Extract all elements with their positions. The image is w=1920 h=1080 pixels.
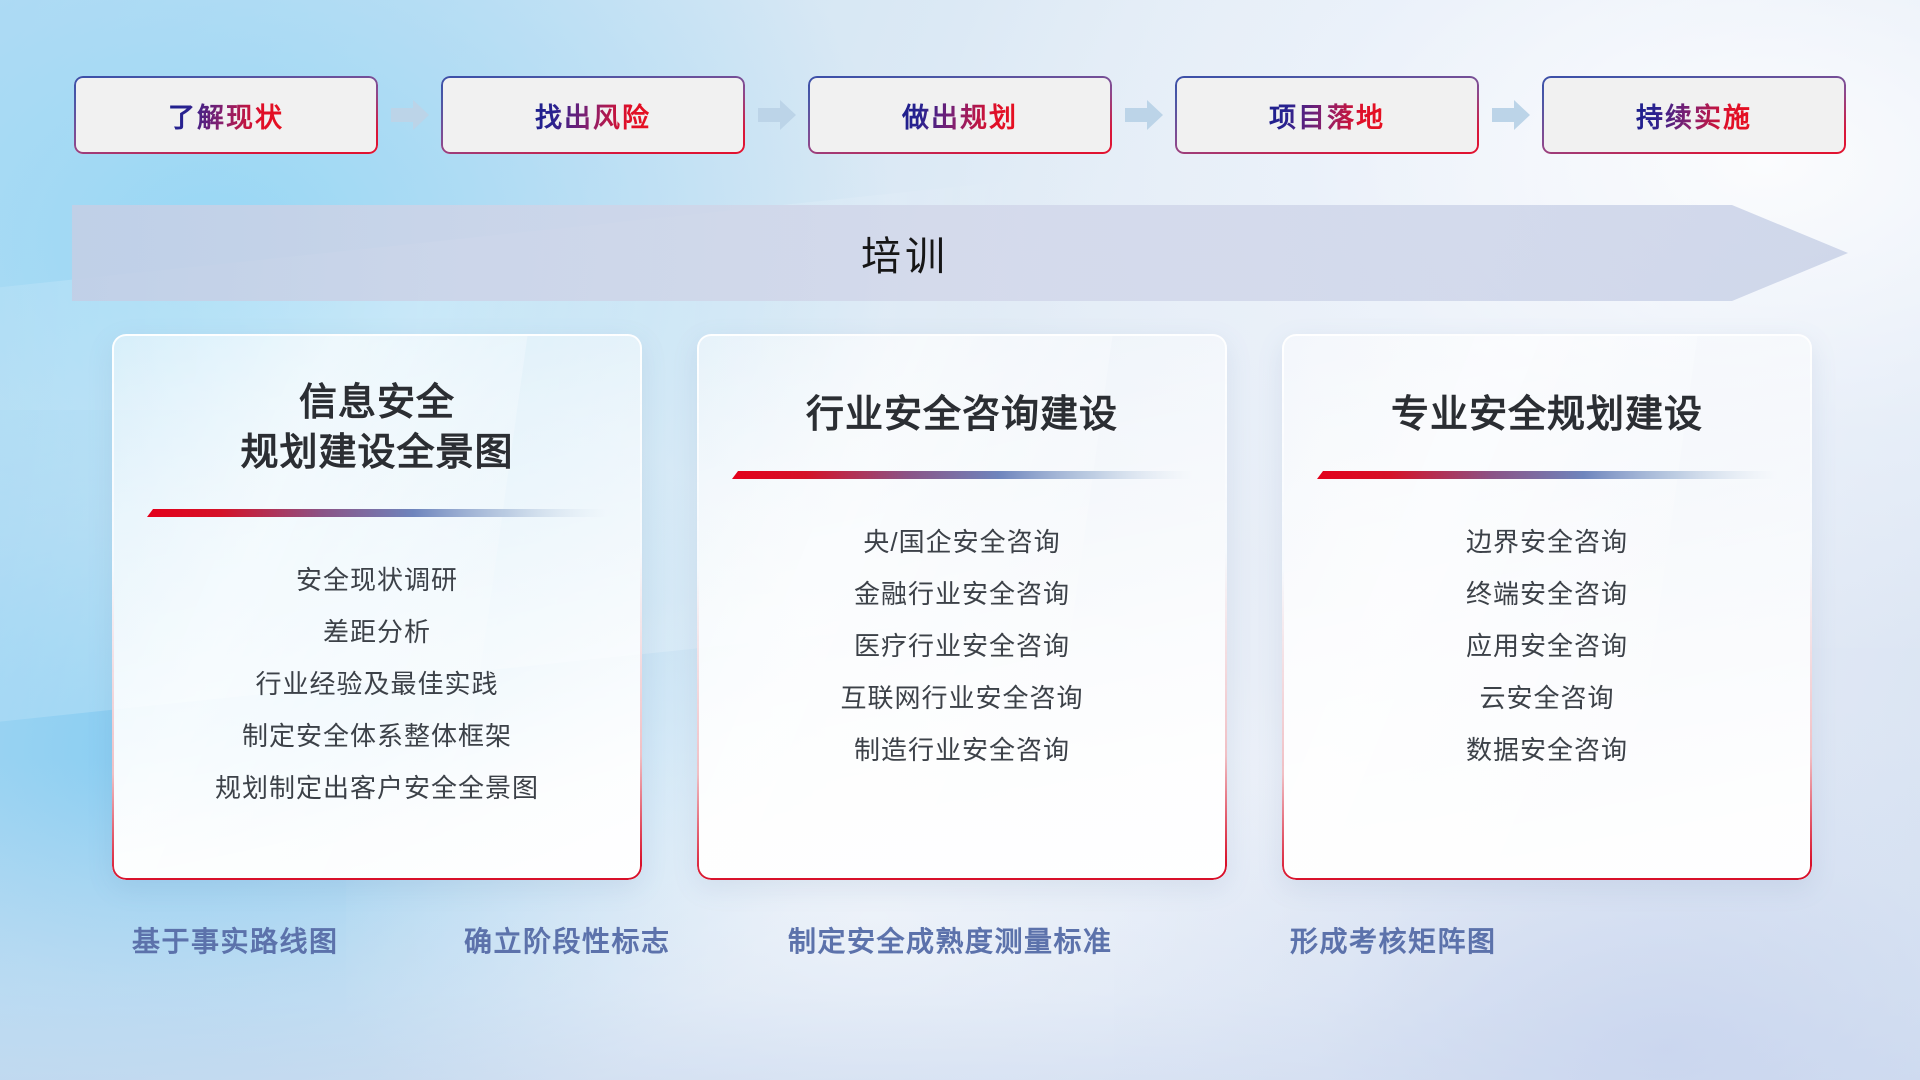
tapered-gradient-rule-icon (147, 506, 607, 522)
card-information-security-panorama[interactable]: 信息安全 规划建设全景图 (112, 334, 642, 880)
list-item: 医疗行业安全咨询 (854, 620, 1070, 672)
card-title-line: 信息安全 (240, 378, 513, 428)
step-box-1[interactable]: 了解现状 (74, 76, 378, 154)
card-title-line: 行业安全咨询建设 (806, 390, 1118, 440)
step-label-2: 找出风险 (535, 96, 651, 135)
list-item: 行业经验及最佳实践 (255, 658, 498, 710)
step-label-3: 做出规划 (902, 96, 1018, 135)
footer-label-row: 基于事实路线图 确立阶段性标志 制定安全成熟度测量标准 形成考核矩阵图 (0, 912, 1920, 968)
list-item: 制定安全体系整体框架 (242, 710, 512, 762)
step-box-5[interactable]: 持续实施 (1542, 76, 1846, 154)
list-item: 差距分析 (323, 606, 431, 658)
arrow-right-icon (1123, 97, 1165, 133)
list-item: 金融行业安全咨询 (854, 568, 1070, 620)
list-item: 规划制定出客户安全全景图 (215, 762, 539, 814)
card-title: 行业安全咨询建设 (782, 390, 1142, 440)
card-title-line: 专业安全规划建设 (1391, 390, 1703, 440)
card-row: 信息安全 规划建设全景图 (112, 334, 1812, 880)
slide-content: 了解现状 找出风险 做出规划 项目落地 (0, 0, 1920, 1080)
tapered-gradient-rule-icon (732, 468, 1192, 484)
list-item: 应用安全咨询 (1466, 620, 1628, 672)
step-label-4: 项目落地 (1269, 96, 1385, 135)
step-box-3[interactable]: 做出规划 (808, 76, 1112, 154)
step-box-4[interactable]: 项目落地 (1175, 76, 1479, 154)
step-box-2[interactable]: 找出风险 (441, 76, 745, 154)
card-item-list: 安全现状调研 差距分析 行业经验及最佳实践 制定安全体系整体框架 规划制定出客户… (112, 554, 642, 814)
list-item: 互联网行业安全咨询 (840, 672, 1083, 724)
arrow-right-icon (389, 97, 431, 133)
step-label-1: 了解现状 (168, 96, 284, 135)
list-item: 制造行业安全咨询 (854, 724, 1070, 776)
list-item: 边界安全咨询 (1466, 516, 1628, 568)
footer-label-1: 基于事实路线图 (132, 912, 339, 968)
training-banner: 培训 (72, 205, 1848, 301)
card-title-line: 规划建设全景图 (240, 428, 513, 478)
list-item: 数据安全咨询 (1466, 724, 1628, 776)
process-step-row: 了解现状 找出风险 做出规划 项目落地 (74, 76, 1846, 154)
card-professional-security-planning[interactable]: 专业安全规划建设 (1282, 334, 1812, 880)
list-item: 终端安全咨询 (1466, 568, 1628, 620)
arrow-right-icon (1490, 97, 1532, 133)
list-item: 安全现状调研 (296, 554, 458, 606)
footer-label-3: 制定安全成熟度测量标准 (788, 912, 1113, 968)
banner-title: 培训 (72, 205, 1738, 301)
tapered-gradient-rule-icon (1317, 468, 1777, 484)
footer-label-2: 确立阶段性标志 (464, 912, 671, 968)
list-item: 云安全咨询 (1479, 672, 1614, 724)
card-item-list: 边界安全咨询 终端安全咨询 应用安全咨询 云安全咨询 数据安全咨询 (1282, 516, 1812, 776)
arrow-right-icon (756, 97, 798, 133)
step-label-5: 持续实施 (1636, 96, 1752, 135)
card-industry-security-consulting[interactable]: 行业安全咨询建设 (697, 334, 1227, 880)
card-item-list: 央/国企安全咨询 金融行业安全咨询 医疗行业安全咨询 互联网行业安全咨询 制造行… (697, 516, 1227, 776)
card-title: 专业安全规划建设 (1367, 390, 1727, 440)
list-item: 央/国企安全咨询 (863, 516, 1060, 568)
footer-label-4: 形成考核矩阵图 (1290, 912, 1497, 968)
card-title: 信息安全 规划建设全景图 (216, 378, 537, 478)
